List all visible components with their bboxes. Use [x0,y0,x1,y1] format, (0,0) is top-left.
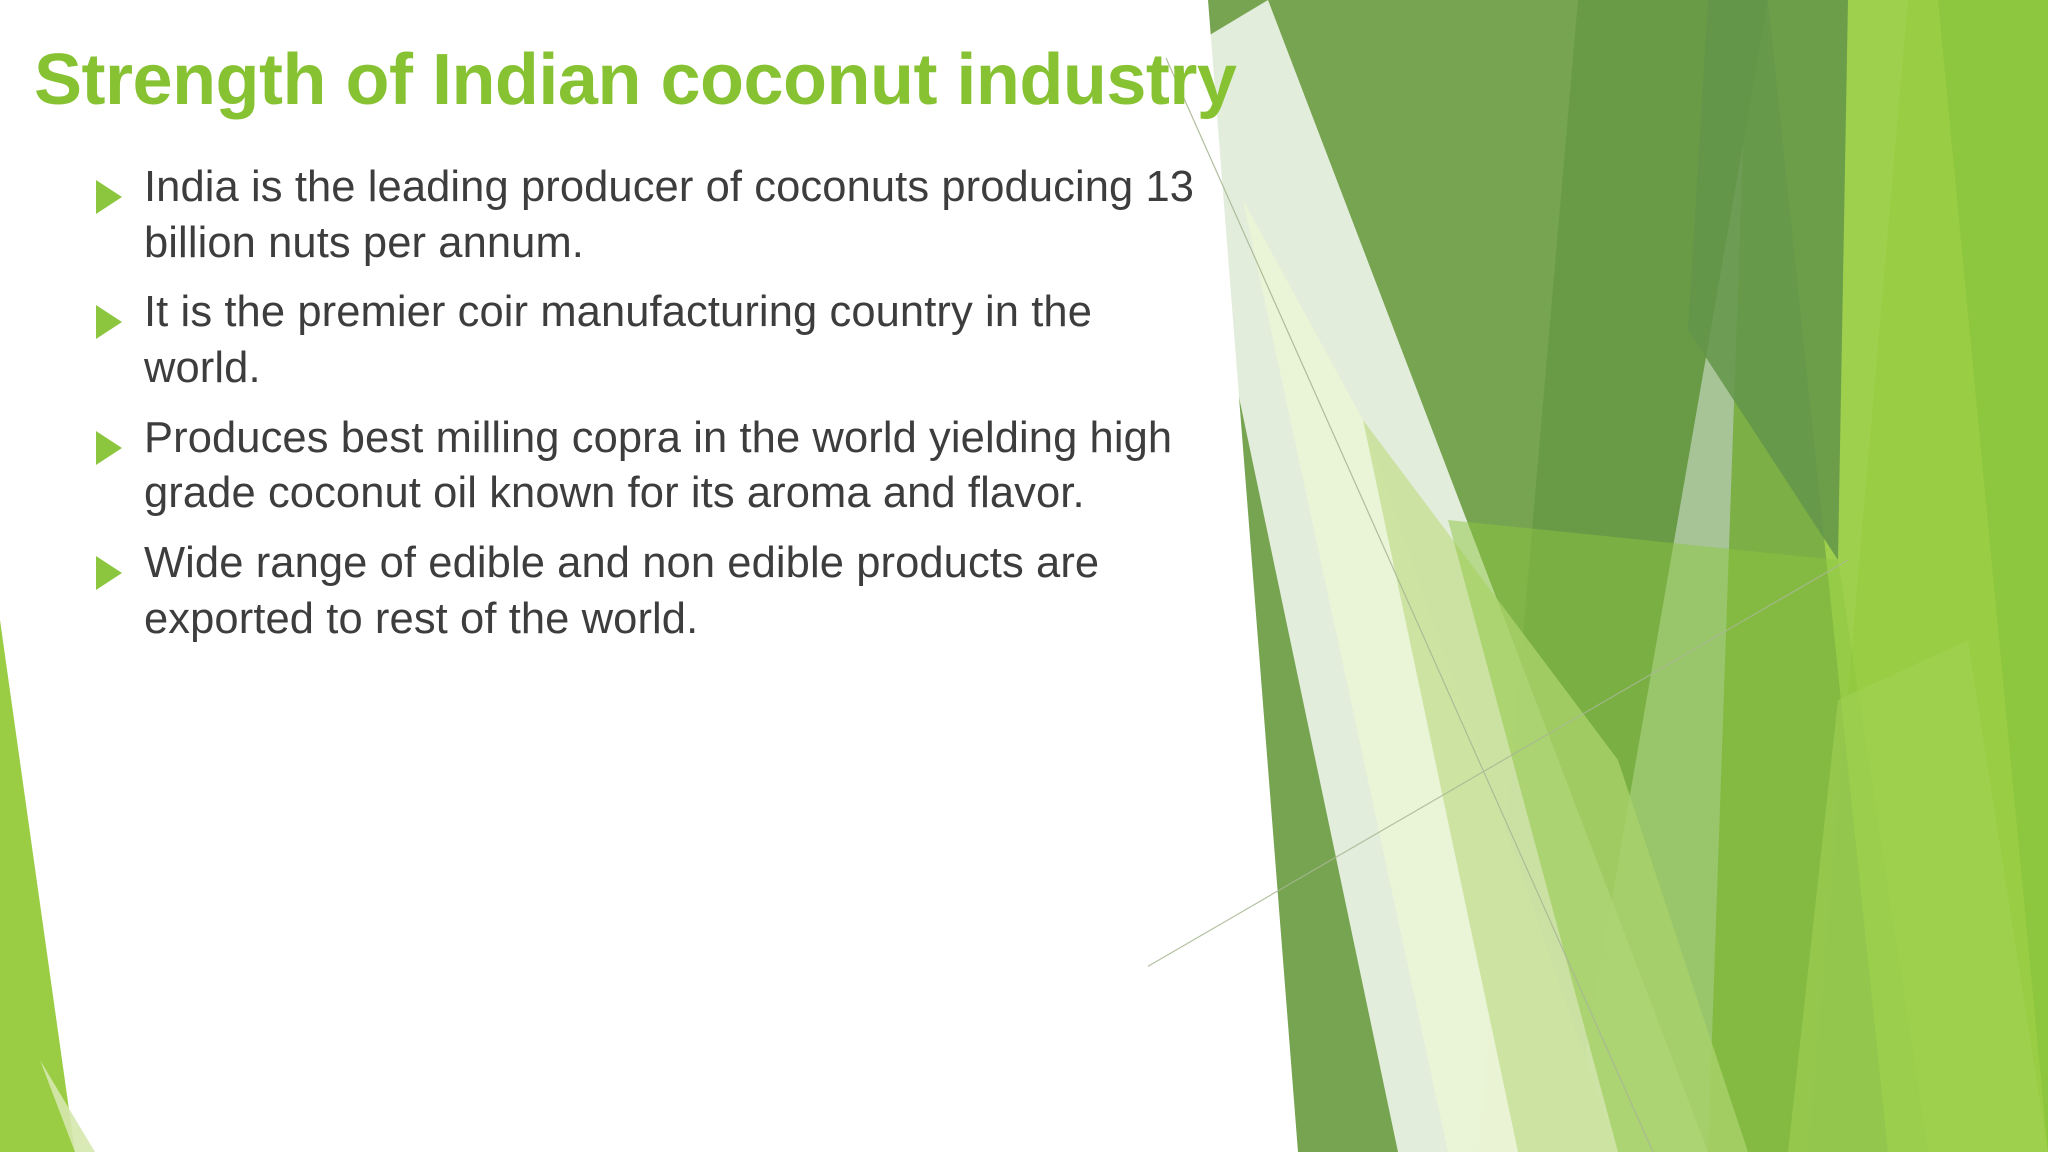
list-item: India is the leading producer of coconut… [96,160,1206,271]
slide-canvas: Strength of Indian coconut industry Indi… [0,0,2048,1152]
facet-hairline-vertical [1166,58,1653,1152]
triangle-right-icon [96,160,144,214]
list-item: It is the premier coir manufacturing cou… [96,285,1206,396]
facet-shape-dark-narrow [1688,0,1848,560]
facet-shape-dark-wedge [1208,0,1768,1152]
facet-shape-cross-facet [1448,520,1928,1152]
facet-shape-mid-overlay [1478,0,1888,1152]
facet-shape-light-wedge [1708,0,2048,1152]
list-item: Wide range of edible and non edible prod… [96,536,1206,647]
facet-shape-pale-lower [1363,420,1748,1152]
facet-shape-accent-bottom [1788,640,2048,1152]
facet-shape-very-pale-band [1243,200,1618,1152]
bullet-list: India is the leading producer of coconut… [96,160,1206,661]
facet-artwork-right [1148,0,2048,1152]
list-item: Produces best milling copra in the world… [96,411,1206,522]
facet-shape-left-sliver-pale [40,1060,95,1152]
list-item-text: Produces best milling copra in the world… [144,411,1206,522]
triangle-right-icon [96,536,144,590]
facet-shape-pale-sweep [1168,0,1708,1152]
facet-shape-left-sliver [0,620,75,1152]
facet-hairline-diagonal [1148,560,1848,1152]
facet-artwork-right-svg [1148,0,2048,1152]
triangle-right-icon [96,411,144,465]
list-item-text: Wide range of edible and non edible prod… [144,536,1206,647]
list-item-text: It is the premier coir manufacturing cou… [144,285,1206,396]
triangle-right-icon [96,285,144,339]
slide-title: Strength of Indian coconut industry [34,40,1364,121]
list-item-text: India is the leading producer of coconut… [144,160,1206,271]
facet-shape-bright-right [1808,0,2048,1152]
